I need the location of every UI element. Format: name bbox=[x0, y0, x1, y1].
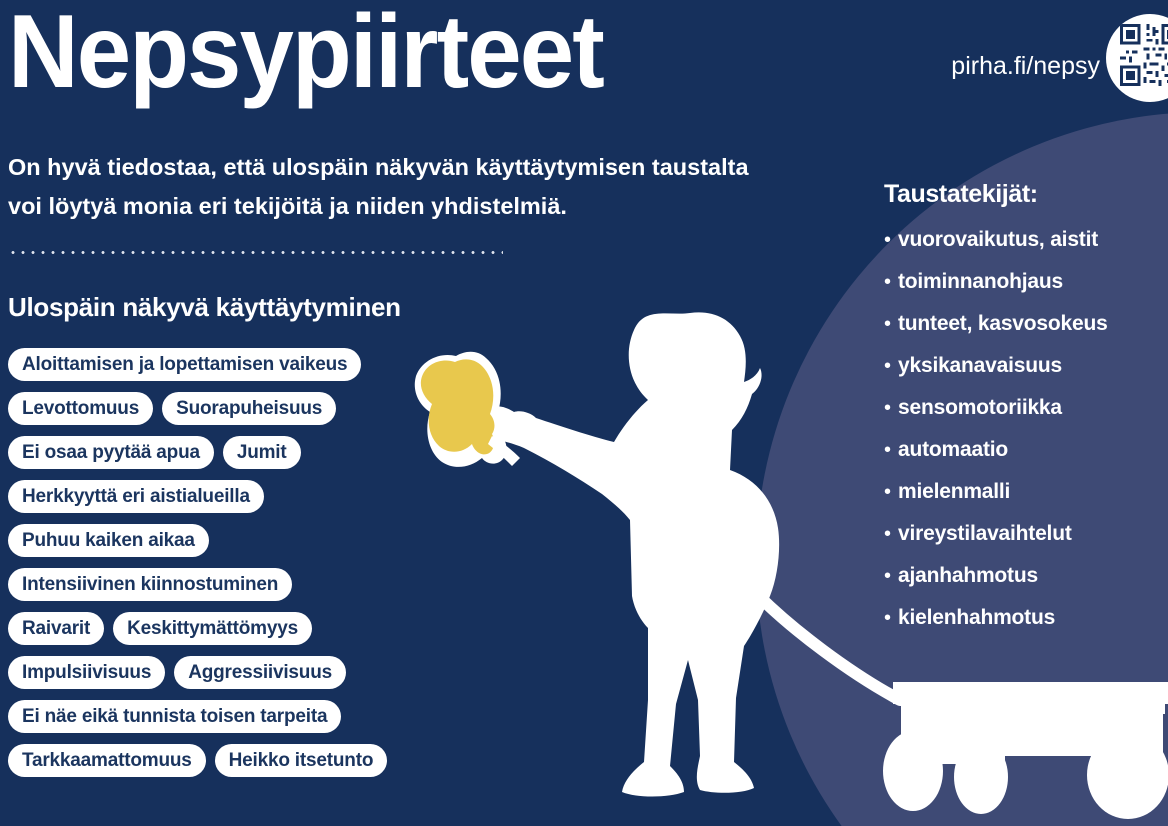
pill-row: Raivarit Keskittymättömyys bbox=[8, 612, 478, 645]
pill-row: Tarkkaamattomuus Heikko itsetunto bbox=[8, 744, 478, 777]
factor-label: vireystilavaihtelut bbox=[898, 523, 1072, 545]
pill-row: Puhuu kaiken aikaa bbox=[8, 524, 478, 557]
factor-item: • automaatio bbox=[884, 439, 1168, 461]
bullet-icon: • bbox=[884, 481, 898, 503]
pill-row: Intensiivinen kiinnostuminen bbox=[8, 568, 478, 601]
bullet-icon: • bbox=[884, 355, 898, 377]
pill-row: Ei osaa pyytää apua Jumit bbox=[8, 436, 478, 469]
factor-label: sensomotoriikka bbox=[898, 397, 1062, 419]
bullet-icon: • bbox=[884, 229, 898, 251]
factor-item: • toiminnanohjaus bbox=[884, 271, 1168, 293]
factor-label: mielenmalli bbox=[898, 481, 1010, 503]
behaviour-pill[interactable]: Ei osaa pyytää apua bbox=[8, 436, 214, 469]
behaviour-pill-list: Aloittamisen ja lopettamisen vaikeus Lev… bbox=[8, 348, 478, 788]
factor-item: • kielenhahmotus bbox=[884, 607, 1168, 629]
lead-paragraph: On hyvä tiedostaa, että ulospäin näkyvän… bbox=[8, 148, 768, 226]
bullet-icon: • bbox=[884, 607, 898, 629]
behaviour-pill[interactable]: Tarkkaamattomuus bbox=[8, 744, 206, 777]
factor-label: vuorovaikutus, aistit bbox=[898, 229, 1098, 251]
bullet-icon: • bbox=[884, 439, 898, 461]
behaviour-pill[interactable]: Ei näe eikä tunnista toisen tarpeita bbox=[8, 700, 341, 733]
factor-item: • vuorovaikutus, aistit bbox=[884, 229, 1168, 251]
child-silhouette bbox=[488, 312, 779, 796]
bullet-icon: • bbox=[884, 397, 898, 419]
factor-label: ajanhahmotus bbox=[898, 565, 1038, 587]
pill-row: Aloittamisen ja lopettamisen vaikeus bbox=[8, 348, 478, 381]
pill-row: Impulsiivisuus Aggressiivisuus bbox=[8, 656, 478, 689]
page-title: Nepsypiirteet bbox=[8, 0, 603, 108]
dotted-divider bbox=[8, 250, 503, 255]
behaviour-pill[interactable]: Aggressiivisuus bbox=[174, 656, 346, 689]
behaviour-pill[interactable]: Levottomuus bbox=[8, 392, 153, 425]
factor-label: yksikanavaisuus bbox=[898, 355, 1062, 377]
factor-label: toiminnanohjaus bbox=[898, 271, 1063, 293]
behaviour-pill[interactable]: Aloittamisen ja lopettamisen vaikeus bbox=[8, 348, 361, 381]
pill-row: Ei näe eikä tunnista toisen tarpeita bbox=[8, 700, 478, 733]
factor-label: kielenhahmotus bbox=[898, 607, 1055, 629]
factors-panel: Taustatekijät: • vuorovaikutus, aistit •… bbox=[884, 180, 1168, 649]
factor-item: • vireystilavaihtelut bbox=[884, 523, 1168, 545]
behaviour-pill[interactable]: Suorapuheisuus bbox=[162, 392, 336, 425]
poster-root: Nepsypiirteet pirha.fi/nepsy bbox=[0, 0, 1168, 826]
behaviour-pill[interactable]: Puhuu kaiken aikaa bbox=[8, 524, 209, 557]
factor-item: • mielenmalli bbox=[884, 481, 1168, 503]
factor-item: • sensomotoriikka bbox=[884, 397, 1168, 419]
factor-label: automaatio bbox=[898, 439, 1008, 461]
behaviour-pill[interactable]: Raivarit bbox=[8, 612, 104, 645]
behaviour-pill[interactable]: Impulsiivisuus bbox=[8, 656, 165, 689]
behaviour-pill[interactable]: Heikko itsetunto bbox=[215, 744, 388, 777]
behaviour-pill[interactable]: Herkkyyttä eri aistialueilla bbox=[8, 480, 264, 513]
pill-row: Levottomuus Suorapuheisuus bbox=[8, 392, 478, 425]
bullet-icon: • bbox=[884, 565, 898, 587]
factors-heading: Taustatekijät: bbox=[884, 180, 1168, 209]
bullet-icon: • bbox=[884, 271, 898, 293]
pill-row: Herkkyyttä eri aistialueilla bbox=[8, 480, 478, 513]
bullet-icon: • bbox=[884, 523, 898, 545]
factor-item: • ajanhahmotus bbox=[884, 565, 1168, 587]
factor-label: tunteet, kasvosokeus bbox=[898, 313, 1108, 335]
behaviour-pill[interactable]: Intensiivinen kiinnostuminen bbox=[8, 568, 292, 601]
behaviour-pill[interactable]: Jumit bbox=[223, 436, 301, 469]
site-url[interactable]: pirha.fi/nepsy bbox=[951, 52, 1100, 81]
factor-item: • yksikanavaisuus bbox=[884, 355, 1168, 377]
behaviour-heading: Ulospäin näkyvä käyttäytyminen bbox=[8, 292, 401, 322]
bullet-icon: • bbox=[884, 313, 898, 335]
behaviour-pill[interactable]: Keskittymättömyys bbox=[113, 612, 312, 645]
qr-code-icon[interactable] bbox=[1106, 14, 1168, 102]
factor-item: • tunteet, kasvosokeus bbox=[884, 313, 1168, 335]
